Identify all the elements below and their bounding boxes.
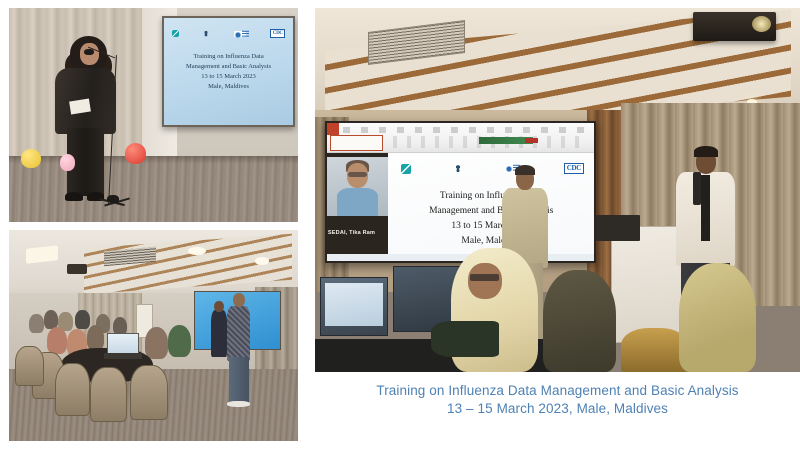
shared-document-thumbnail: [330, 135, 383, 151]
balloon-red: [125, 143, 147, 164]
carpet-floor: [9, 156, 298, 222]
foreground-laptop-1-screen: [325, 283, 383, 327]
slide-title-line-1: Training on Influenza Data: [396, 189, 586, 204]
slide-title-line-2: Management and Basic Analysis: [169, 62, 288, 72]
photo-collage: CDC Training on Influenza Data Managemen…: [0, 0, 800, 450]
slide-title-block: Training on Influenza Data Management an…: [396, 189, 586, 248]
participant-seated: [168, 325, 191, 357]
presenter-2-necktie: [701, 175, 710, 241]
facilitator-head-2: [233, 293, 245, 307]
ceiling-downlight-1: [188, 247, 205, 255]
foreground-participant-3: [679, 263, 757, 372]
facilitator-body-2: [227, 306, 250, 361]
maldives-emblem-logo-icon: [203, 30, 209, 37]
presenter-2-hair: [694, 146, 717, 157]
slide-title-line-2: Management and Basic Analysis: [396, 204, 586, 219]
podium-laptop: [596, 215, 640, 240]
caption-line-2: 13 – 15 March 2023, Male, Maldives: [315, 400, 800, 418]
photo-training-room-wide: [9, 230, 298, 441]
balloon-pink: [60, 154, 76, 171]
video-feed: [327, 157, 389, 215]
cdc-logo-icon: CDC: [564, 163, 584, 174]
foreground-participant-1-arm: [431, 321, 499, 357]
handheld-microphone-icon: [693, 172, 701, 205]
foreground-participant-1-face: [468, 263, 502, 299]
ribbon-tab-strip: [343, 127, 587, 133]
banquet-chair: [15, 346, 44, 386]
facilitator-head-1: [214, 301, 224, 313]
slide-logo-row-small: CDC: [172, 26, 285, 42]
ceiling-downlight-2: [255, 257, 269, 264]
facilitator-legs-2: [229, 357, 249, 403]
hpa-maldives-logo-icon: [401, 164, 411, 174]
microphone-icon: [84, 49, 94, 55]
caption-line-1: Training on Influenza Data Management an…: [315, 382, 800, 400]
video-participant-name: SEDAI, Tika Ram: [328, 230, 375, 236]
facilitator-body-1: [211, 310, 227, 356]
foreground-participant-1-glasses-icon: [470, 274, 499, 281]
powerpoint-badge-icon: [327, 123, 339, 135]
participant-seated: [87, 325, 104, 350]
ribbon-record-indicator: [525, 138, 538, 144]
video-participant-shirt: [337, 188, 379, 216]
banquet-chair: [55, 363, 90, 416]
ceiling-projector-icon: [67, 264, 87, 275]
projection-screen-main: SEDAI, Tika Ram CDC Training on Influenz…: [325, 121, 597, 263]
slide-logo-row: CDC: [401, 160, 584, 177]
video-participant-panel: SEDAI, Tika Ram: [327, 153, 389, 254]
presenter-1-hair: [515, 165, 535, 176]
cdc-logo-icon: CDC: [270, 29, 285, 38]
photo-main-conference-hall: SEDAI, Tika Ram CDC Training on Influenz…: [315, 8, 800, 372]
participant-seated: [75, 310, 89, 329]
foreground-participant-2: [543, 270, 616, 372]
who-logo-icon: [234, 31, 246, 37]
photo-speaker-at-microphone: CDC Training on Influenza Data Managemen…: [9, 8, 298, 222]
microphone-stand-foot: [107, 195, 119, 202]
maldives-emblem-logo-icon: [454, 164, 462, 173]
slide-title-line-4: Male, Maldives: [396, 234, 586, 249]
slide-title-line-1: Training on Influenza Data: [169, 52, 288, 62]
video-participant-glasses-icon: [348, 172, 366, 177]
slide-title-line-3: 13 to 15 March 2023: [169, 72, 288, 82]
slide-canvas: CDC Training on Influenza Data Managemen…: [388, 153, 594, 254]
participant-seated: [47, 327, 67, 354]
collage-caption: Training on Influenza Data Management an…: [315, 382, 800, 418]
speaker-shoe-left: [65, 192, 82, 201]
banquet-chair: [90, 367, 128, 422]
laptop-base: [104, 353, 142, 358]
slide-title-line-3: 13 to 15 March 2023: [396, 219, 586, 234]
banquet-chair: [130, 365, 168, 420]
podium-table: [611, 226, 684, 342]
hpa-maldives-logo-icon: [172, 30, 179, 37]
participant-seated: [29, 314, 43, 333]
balloon-yellow: [21, 149, 41, 168]
laptop-screen: [107, 333, 139, 354]
slide-title-line-4: Male, Maldives: [169, 82, 288, 92]
participant-seated: [145, 327, 168, 359]
projection-screen-small: CDC Training on Influenza Data Managemen…: [162, 16, 295, 127]
facilitator-shoes-2: [227, 401, 250, 407]
slide-title-block-small: Training on Influenza Data Management an…: [169, 52, 288, 91]
